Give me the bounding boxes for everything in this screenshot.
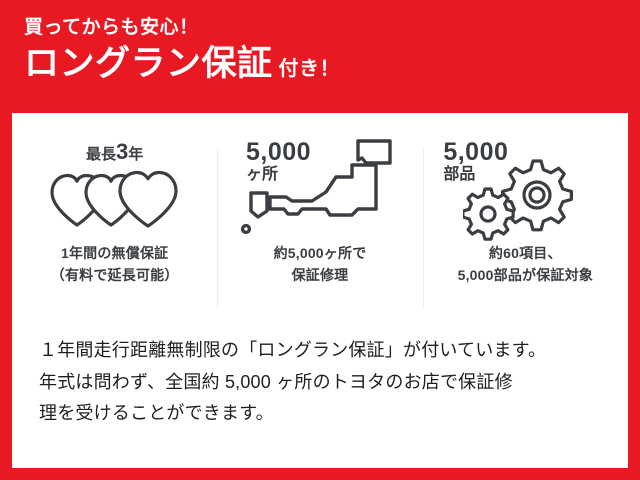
feature-row: 最長3年 1年間の無償保証 （有料で延長可能）: [12, 135, 628, 325]
feature-1-badge-prefix: 最長: [86, 146, 116, 163]
headline-suffix: 付き！: [279, 58, 341, 80]
headline-main: ロングラン保証: [24, 44, 273, 83]
feature-1-badge-suffix: 年: [128, 146, 143, 163]
feature-2-badge-number: 5,000: [246, 138, 311, 166]
feature-3-badge-unit: 部品: [443, 167, 508, 184]
body-line-3: 理を受けることができます。: [39, 398, 609, 430]
feature-3-caption-line2: 5,000部品が保証対象: [458, 265, 593, 287]
feature-3-badge: 5,000 部品: [443, 139, 508, 184]
content-panel: 最長3年 1年間の無償保証 （有料で延長可能）: [12, 113, 628, 468]
warranty-banner: 買ってからも安心！ ロングラン保証付き！ 最長3年: [0, 0, 640, 480]
feature-1-badge: 最長3年: [40, 139, 190, 165]
feature-1-figure: 最長3年: [12, 135, 217, 243]
feature-2-badge: 5,000 ヶ所: [246, 139, 311, 184]
feature-3-badge-number: 5,000: [443, 138, 508, 166]
headline: ロングラン保証付き！: [24, 46, 340, 83]
feature-3-figure: 5,000 部品: [423, 135, 628, 243]
feature-1-caption: 1年間の無償保証 （有料で延長可能）: [51, 243, 179, 286]
banner-header: 買ってからも安心！ ロングラン保証付き！: [24, 18, 340, 83]
feature-covered-parts: 5,000 部品 約60項目、 5,000部品が保証対象: [423, 135, 628, 325]
feature-1-caption-line1: 1年間の無償保証: [51, 243, 179, 265]
feature-2-caption-line2: 保証修理: [274, 265, 367, 287]
body-line-2: 年式は問わず、全国約 5,000 ヶ所のトヨタのお店で保証修: [39, 367, 609, 399]
feature-2-badge-unit: ヶ所: [246, 167, 311, 184]
feature-service-locations: 5,000 ヶ所 約5,000ヶ所で 保証修理: [217, 135, 422, 325]
body-line-1: １年間走行距離無制限の「ロングラン保証」が付いています。: [39, 335, 609, 367]
feature-1-badge-number: 3: [116, 139, 128, 164]
feature-warranty-term: 最長3年 1年間の無償保証 （有料で延長可能）: [12, 135, 217, 325]
kicker-text: 買ってからも安心！: [24, 18, 340, 39]
feature-2-figure: 5,000 ヶ所: [217, 135, 422, 243]
feature-3-caption: 約60項目、 5,000部品が保証対象: [458, 243, 593, 286]
feature-1-caption-line2: （有料で延長可能）: [51, 265, 179, 287]
feature-3-caption-line1: 約60項目、: [458, 243, 593, 265]
body-paragraph: １年間走行距離無制限の「ロングラン保証」が付いています。 年式は問わず、全国約 …: [39, 335, 609, 430]
three-hearts-icon: [48, 168, 182, 230]
feature-2-caption-line1: 約5,000ヶ所で: [274, 243, 367, 265]
feature-2-caption: 約5,000ヶ所で 保証修理: [274, 243, 367, 286]
